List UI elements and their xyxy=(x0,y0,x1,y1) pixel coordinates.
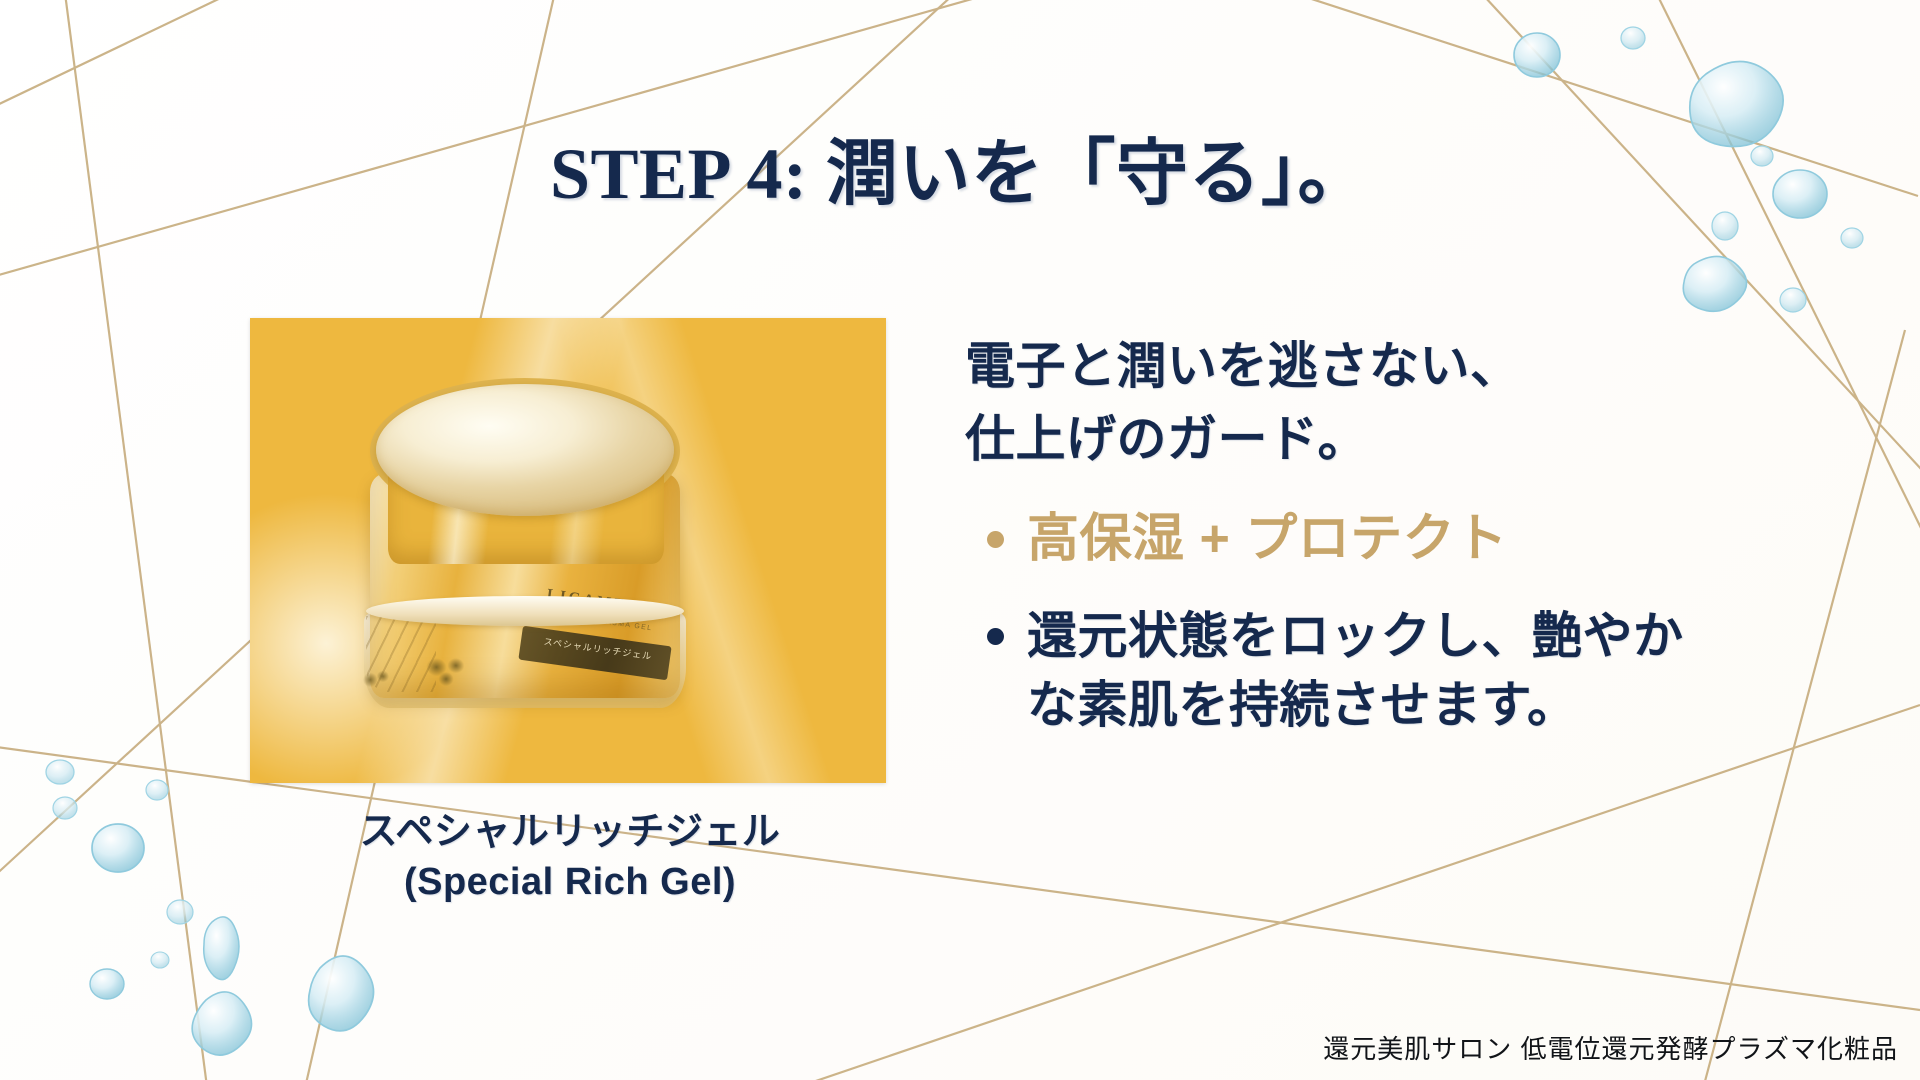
caption-line-jp: スペシャルリッチジェル xyxy=(250,807,890,857)
cosmetic-jar: LIGAMENT REDUCED PLASMA GEL スペシャルリッチジェル xyxy=(370,386,680,716)
slide-canvas: STEP 4: 潤いを「守る」。 LIGAMENT REDUCED PLASMA… xyxy=(0,0,1920,1080)
page-title: STEP 4: 潤いを「守る」。 xyxy=(0,134,1920,215)
jar-rim xyxy=(366,596,684,626)
product-caption: スペシャルリッチジェル (Special Rich Gel) xyxy=(250,807,890,907)
bullet-item-effect: 還元状態をロックし、艶やかな素肌を持続させます。 xyxy=(965,602,1695,740)
jar-motif-center xyxy=(416,651,479,693)
footer-branding: 還元美肌サロン 低電位還元発酵プラズマ化粧品 xyxy=(1323,1029,1898,1066)
lead-line-2: 仕上げのガード。 xyxy=(965,403,1695,476)
left-column: LIGAMENT REDUCED PLASMA GEL スペシャルリッチジェル … xyxy=(250,318,890,907)
bullet-list: 高保湿 + プロテクト 還元状態をロックし、艶やかな素肌を持続させます。 xyxy=(965,504,1695,740)
bullet-item-benefit: 高保湿 + プロテクト xyxy=(965,504,1695,576)
jar-lid-top xyxy=(376,384,674,516)
caption-line-en: (Special Rich Gel) xyxy=(250,857,890,907)
lead-paragraph: 電子と潤いを逃さない、 仕上げのガード。 xyxy=(965,330,1695,476)
product-photo: LIGAMENT REDUCED PLASMA GEL スペシャルリッチジェル xyxy=(250,318,886,783)
lead-line-1: 電子と潤いを逃さない、 xyxy=(965,330,1695,403)
right-column: 電子と潤いを逃さない、 仕上げのガード。 高保湿 + プロテクト 還元状態をロッ… xyxy=(965,330,1695,766)
jar-motif-left xyxy=(355,667,397,696)
